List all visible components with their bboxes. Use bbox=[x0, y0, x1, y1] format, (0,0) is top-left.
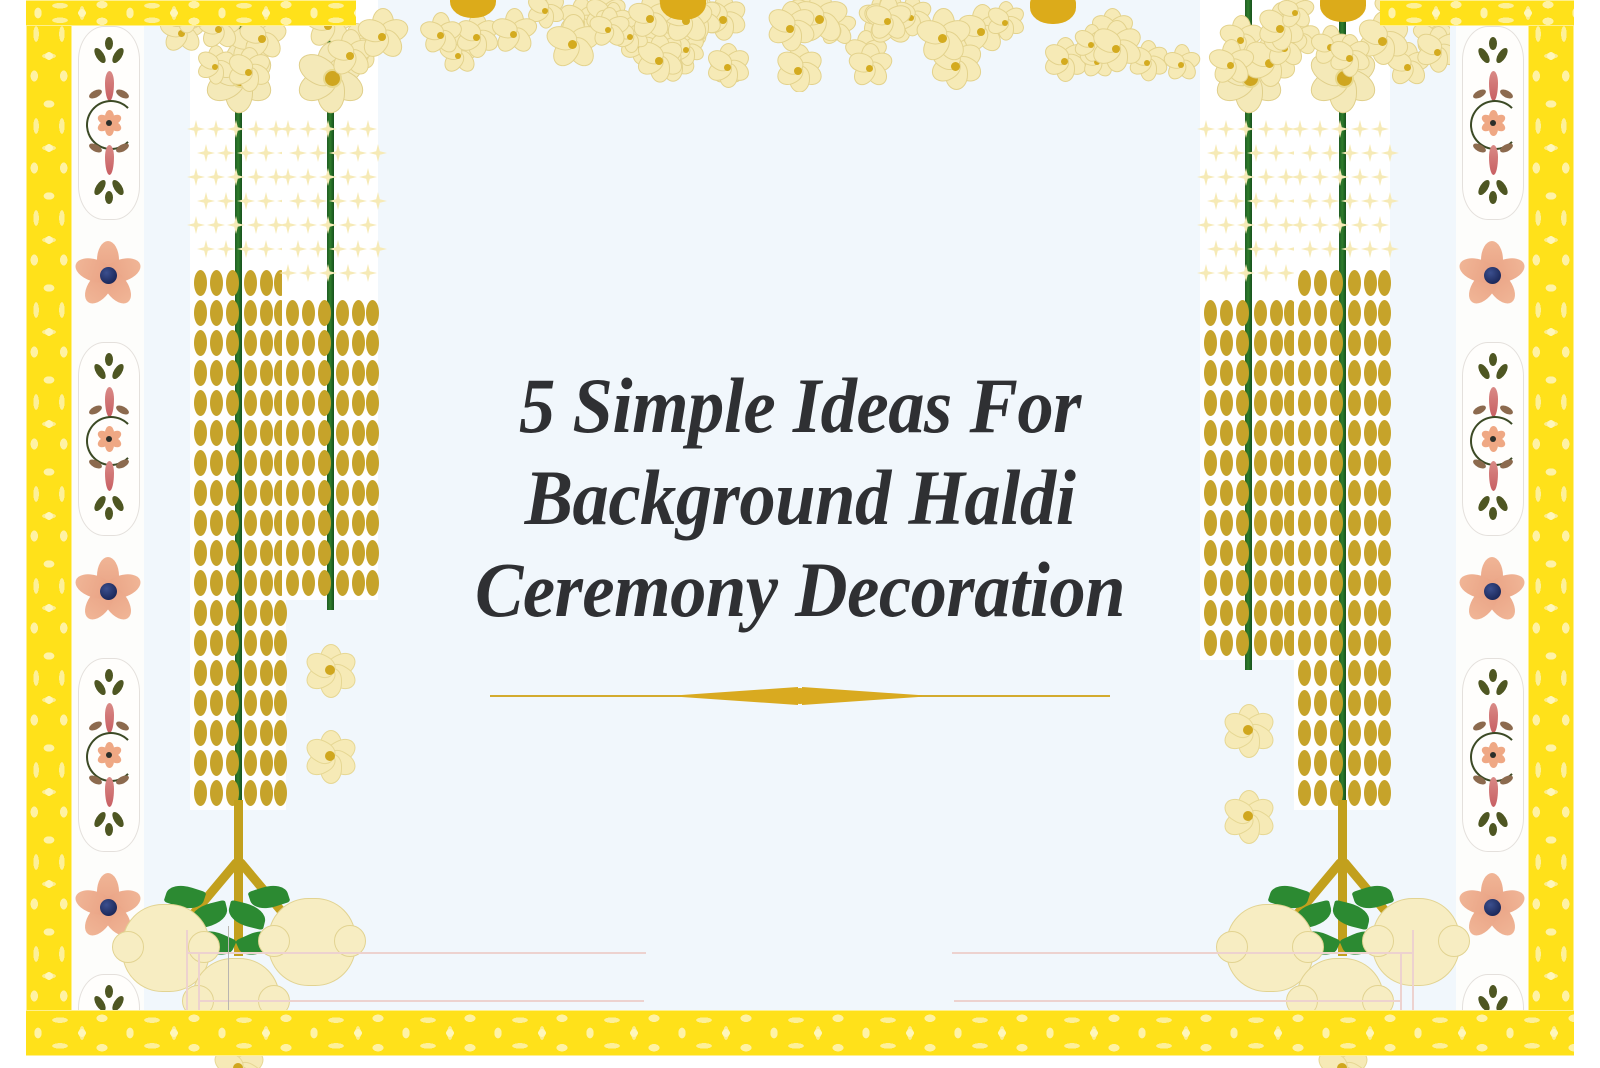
cartouche-motif bbox=[1462, 658, 1524, 852]
top-row-flower-icon bbox=[1414, 29, 1450, 75]
leaf-cluster-icon bbox=[1476, 671, 1510, 693]
wing-cluster-icon bbox=[92, 71, 126, 93]
frame-band-top-left bbox=[26, 0, 356, 26]
trailing-small-flower-icon bbox=[1218, 700, 1278, 760]
star-flower-icon bbox=[1480, 110, 1506, 136]
wing-cluster-icon bbox=[1476, 71, 1510, 93]
top-row-flower-icon bbox=[419, 14, 462, 57]
wing-cluster-icon bbox=[1476, 387, 1510, 409]
garland-bead-strands bbox=[1294, 270, 1390, 810]
star-flower-icon bbox=[1480, 426, 1506, 452]
top-row-flower-icon bbox=[915, 11, 970, 66]
cartouche-motif bbox=[78, 26, 140, 220]
leaf-cluster-icon bbox=[1476, 495, 1510, 517]
top-row-flower-icon bbox=[490, 11, 536, 57]
leaf-cluster-icon bbox=[92, 495, 126, 517]
inner-rule-grey-left bbox=[228, 926, 229, 1010]
top-row-flower-icon bbox=[765, 4, 815, 54]
title-line-2: Background Haldi bbox=[419, 452, 1182, 544]
leaf-cluster-icon bbox=[1476, 355, 1510, 377]
star-flower-icon bbox=[96, 110, 122, 136]
top-row-flower-icon bbox=[864, 0, 910, 44]
title-line-3: Ceremony Decoration bbox=[419, 544, 1182, 636]
frame-band-bottom bbox=[26, 1010, 1574, 1056]
garland-left-inner bbox=[270, 0, 390, 1010]
wing-cluster-icon bbox=[92, 387, 126, 409]
inner-rule-horizontal-left-1 bbox=[186, 952, 646, 954]
cartouche-motif bbox=[1462, 974, 1524, 1010]
top-row-flower-icon bbox=[226, 50, 270, 92]
garland-jasmine-section bbox=[282, 120, 378, 300]
inner-rule-vertical-right-1 bbox=[1412, 930, 1414, 1010]
leaf-cluster-icon bbox=[1476, 39, 1510, 61]
divider-center-dot bbox=[792, 688, 808, 704]
top-row-flower-icon bbox=[356, 11, 408, 63]
panel-flower-icon bbox=[1456, 238, 1528, 312]
garland-jasmine-section bbox=[1294, 120, 1390, 270]
leaf-cluster-icon bbox=[1476, 987, 1510, 1009]
cartouche-motif bbox=[78, 342, 140, 536]
leaf-cluster-icon bbox=[92, 355, 126, 377]
inner-rule-horizontal-right-1 bbox=[952, 952, 1414, 954]
garland-foot bbox=[1232, 800, 1452, 1010]
panel-flower-icon bbox=[72, 238, 144, 312]
star-flower-icon bbox=[1480, 742, 1506, 768]
wing-cluster-icon bbox=[1476, 141, 1510, 163]
leaf-cluster-icon bbox=[92, 811, 126, 833]
cartouche-motif bbox=[1462, 342, 1524, 536]
wing-cluster-icon bbox=[92, 141, 126, 163]
frame-band-left bbox=[26, 0, 72, 1038]
divider-wedge-right bbox=[802, 687, 922, 705]
page-title: 5 Simple Ideas For Background Haldi Cere… bbox=[419, 360, 1182, 636]
ornamental-divider bbox=[490, 683, 1110, 709]
leaf-cluster-icon bbox=[1476, 179, 1510, 201]
inner-rule-horizontal-right-2 bbox=[954, 1000, 1400, 1002]
frame-band-top-right bbox=[1380, 0, 1574, 26]
marigold-icon bbox=[1030, 0, 1076, 24]
right-ornament-panel bbox=[1456, 0, 1528, 1010]
leaf-cluster-icon bbox=[92, 39, 126, 61]
top-row-flower-icon bbox=[705, 45, 750, 90]
leaf-cluster-icon bbox=[92, 987, 126, 1009]
top-row-flower-icon bbox=[1277, 0, 1313, 31]
garland-bead-strands bbox=[282, 300, 378, 600]
leaf-cluster-icon bbox=[1476, 811, 1510, 833]
wing-cluster-icon bbox=[92, 703, 126, 725]
wing-cluster-icon bbox=[92, 773, 126, 795]
top-row-flower-icon bbox=[1163, 46, 1200, 83]
wing-cluster-icon bbox=[92, 457, 126, 479]
star-flower-icon bbox=[96, 426, 122, 452]
panel-flower-icon bbox=[72, 554, 144, 628]
title-line-1: 5 Simple Ideas For bbox=[419, 360, 1182, 452]
top-row-flower-icon bbox=[1328, 37, 1370, 79]
leaf-cluster-icon bbox=[92, 179, 126, 201]
inner-rule-vertical-left-1 bbox=[186, 930, 188, 1010]
wing-cluster-icon bbox=[1476, 703, 1510, 725]
panel-flower-icon bbox=[1456, 554, 1528, 628]
wing-cluster-icon bbox=[1476, 773, 1510, 795]
inner-rule-vertical-right-2 bbox=[1400, 952, 1402, 1010]
divider-wedge-left bbox=[678, 687, 798, 705]
top-row-flower-icon bbox=[588, 10, 628, 50]
top-row-flower-icon bbox=[986, 4, 1024, 42]
garland-right-outer bbox=[1282, 0, 1402, 1010]
cartouche-motif bbox=[1462, 26, 1524, 220]
blossom-pom-icon bbox=[1372, 898, 1460, 986]
wing-cluster-icon bbox=[1476, 457, 1510, 479]
frame-band-right bbox=[1528, 0, 1574, 1038]
top-row-flower-icon bbox=[1207, 42, 1253, 88]
top-row-flower-icon bbox=[1090, 23, 1142, 75]
inner-rule-horizontal-left-2 bbox=[198, 1000, 644, 1002]
trailing-small-flower-icon bbox=[300, 640, 360, 700]
leaf-cluster-icon bbox=[92, 671, 126, 693]
star-flower-icon bbox=[96, 742, 122, 768]
trailing-small-flower-icon bbox=[300, 726, 360, 786]
poster-canvas: 5 Simple Ideas For Background Haldi Cere… bbox=[0, 0, 1600, 1068]
top-row-flower-icon bbox=[847, 46, 891, 90]
